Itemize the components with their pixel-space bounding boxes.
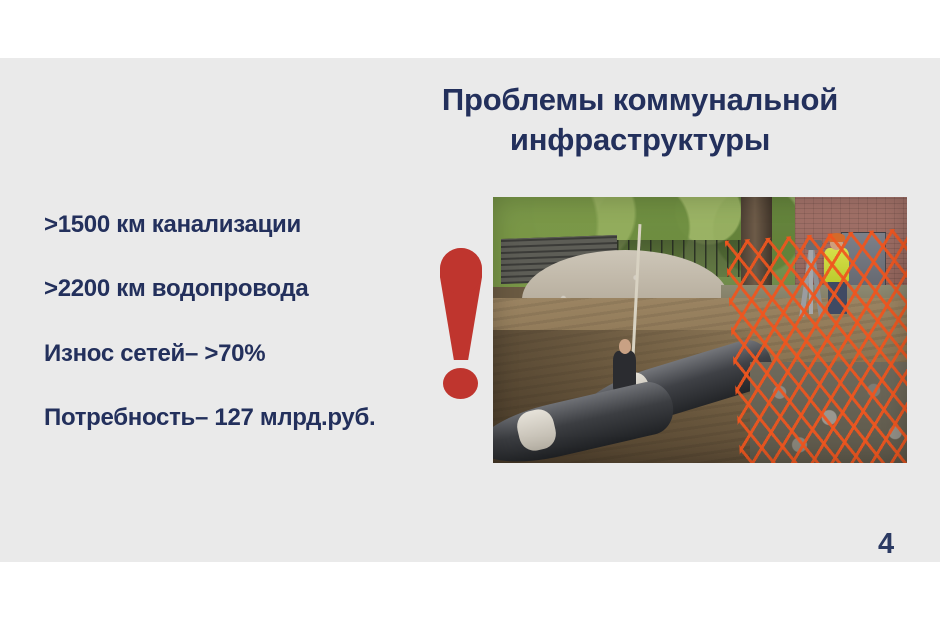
page-title: Проблемы коммунальной инфраструктуры <box>360 80 920 159</box>
list-item: >2200 км водопровода <box>44 276 444 302</box>
construction-site-photo <box>493 197 907 463</box>
statistics-list: >1500 км канализации >2200 км водопровод… <box>44 212 444 432</box>
list-item: >1500 км канализации <box>44 212 444 238</box>
exclamation-stem <box>440 248 482 360</box>
slide-root: Проблемы коммунальной инфраструктуры >15… <box>0 0 940 627</box>
list-item: Износ сетей– >70% <box>44 341 444 367</box>
photo-vignette <box>493 197 907 463</box>
list-item: Потребность– 127 млрд.руб. <box>44 405 444 431</box>
exclamation-dot <box>443 368 478 399</box>
page-number: 4 <box>878 528 894 561</box>
exclamation-mark-icon <box>432 248 490 398</box>
